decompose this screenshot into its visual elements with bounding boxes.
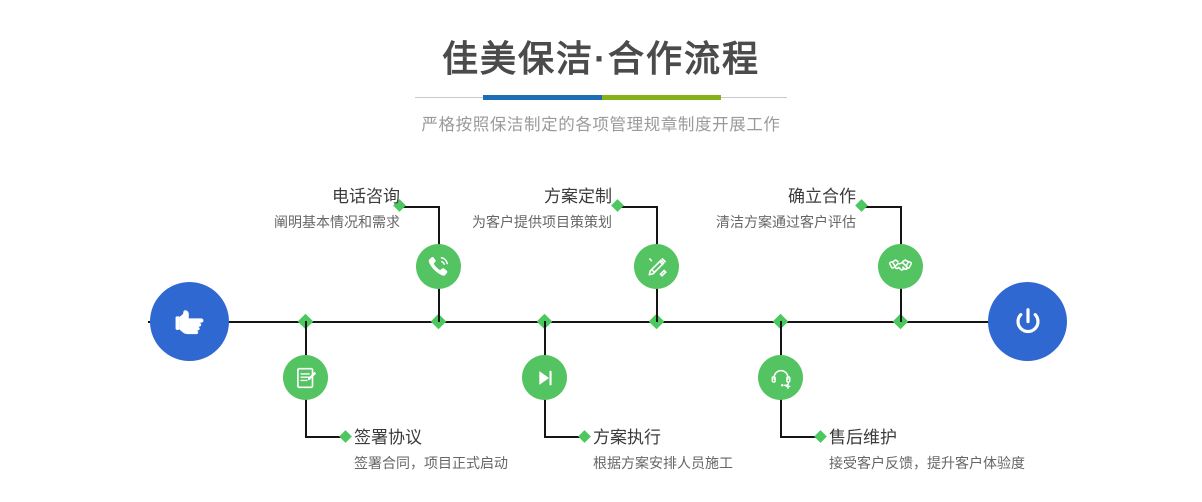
timeline-end-node [988, 282, 1067, 361]
step-icon-4 [522, 355, 567, 400]
play-skip-icon [532, 365, 558, 391]
label-marker-3 [611, 199, 624, 212]
phone-call-icon [425, 253, 452, 280]
customer-service-icon [768, 365, 794, 391]
step-title-3: 方案定制 [460, 186, 612, 208]
step-label-3: 方案定制 为客户提供项目策策划 [460, 186, 612, 232]
label-marker-6 [814, 430, 827, 443]
step-title-6: 售后维护 [829, 427, 1025, 449]
process-timeline: 电话咨询 阐明基本情况和需求 签署协议 签署合同，项目正式启动 [0, 0, 1202, 502]
step-title-4: 方案执行 [593, 427, 733, 449]
pencil-ruler-icon [644, 254, 670, 280]
step-icon-2 [283, 355, 328, 400]
step-desc-2: 签署合同，项目正式启动 [354, 453, 508, 473]
step-icon-3 [634, 244, 679, 289]
step-icon-6 [758, 355, 803, 400]
step-title-5: 确立合作 [704, 186, 856, 208]
connector-horizontal-3 [618, 206, 658, 208]
document-edit-icon [293, 365, 319, 391]
label-marker-4 [578, 430, 591, 443]
step-desc-1: 阐明基本情况和需求 [250, 212, 400, 232]
step-desc-4: 根据方案安排人员施工 [593, 453, 733, 473]
step-label-4: 方案执行 根据方案安排人员施工 [593, 427, 733, 473]
cooperation-process-infographic: 佳美保洁·合作流程 严格按照保洁制定的各项管理规章制度开展工作 [0, 0, 1202, 502]
timeline-start-node [150, 282, 229, 361]
connector-horizontal-1 [400, 206, 440, 208]
step-desc-3: 为客户提供项目策策划 [460, 212, 612, 232]
step-title-1: 电话咨询 [250, 186, 400, 208]
step-title-2: 签署协议 [354, 427, 508, 449]
label-marker-5 [855, 199, 868, 212]
step-label-6: 售后维护 接受客户反馈，提升客户体验度 [829, 427, 1025, 473]
step-label-1: 电话咨询 阐明基本情况和需求 [250, 186, 400, 232]
step-desc-5: 清洁方案通过客户评估 [704, 212, 856, 232]
pointing-hand-icon [169, 301, 211, 343]
step-icon-1 [416, 244, 461, 289]
power-icon [1007, 301, 1049, 343]
step-label-2: 签署协议 签署合同，项目正式启动 [354, 427, 508, 473]
connector-horizontal-5 [862, 206, 902, 208]
step-desc-6: 接受客户反馈，提升客户体验度 [829, 453, 1025, 473]
handshake-icon [887, 253, 914, 280]
label-marker-2 [339, 430, 352, 443]
step-label-5: 确立合作 清洁方案通过客户评估 [704, 186, 856, 232]
timeline-axis [148, 321, 1054, 323]
step-icon-5 [878, 244, 923, 289]
